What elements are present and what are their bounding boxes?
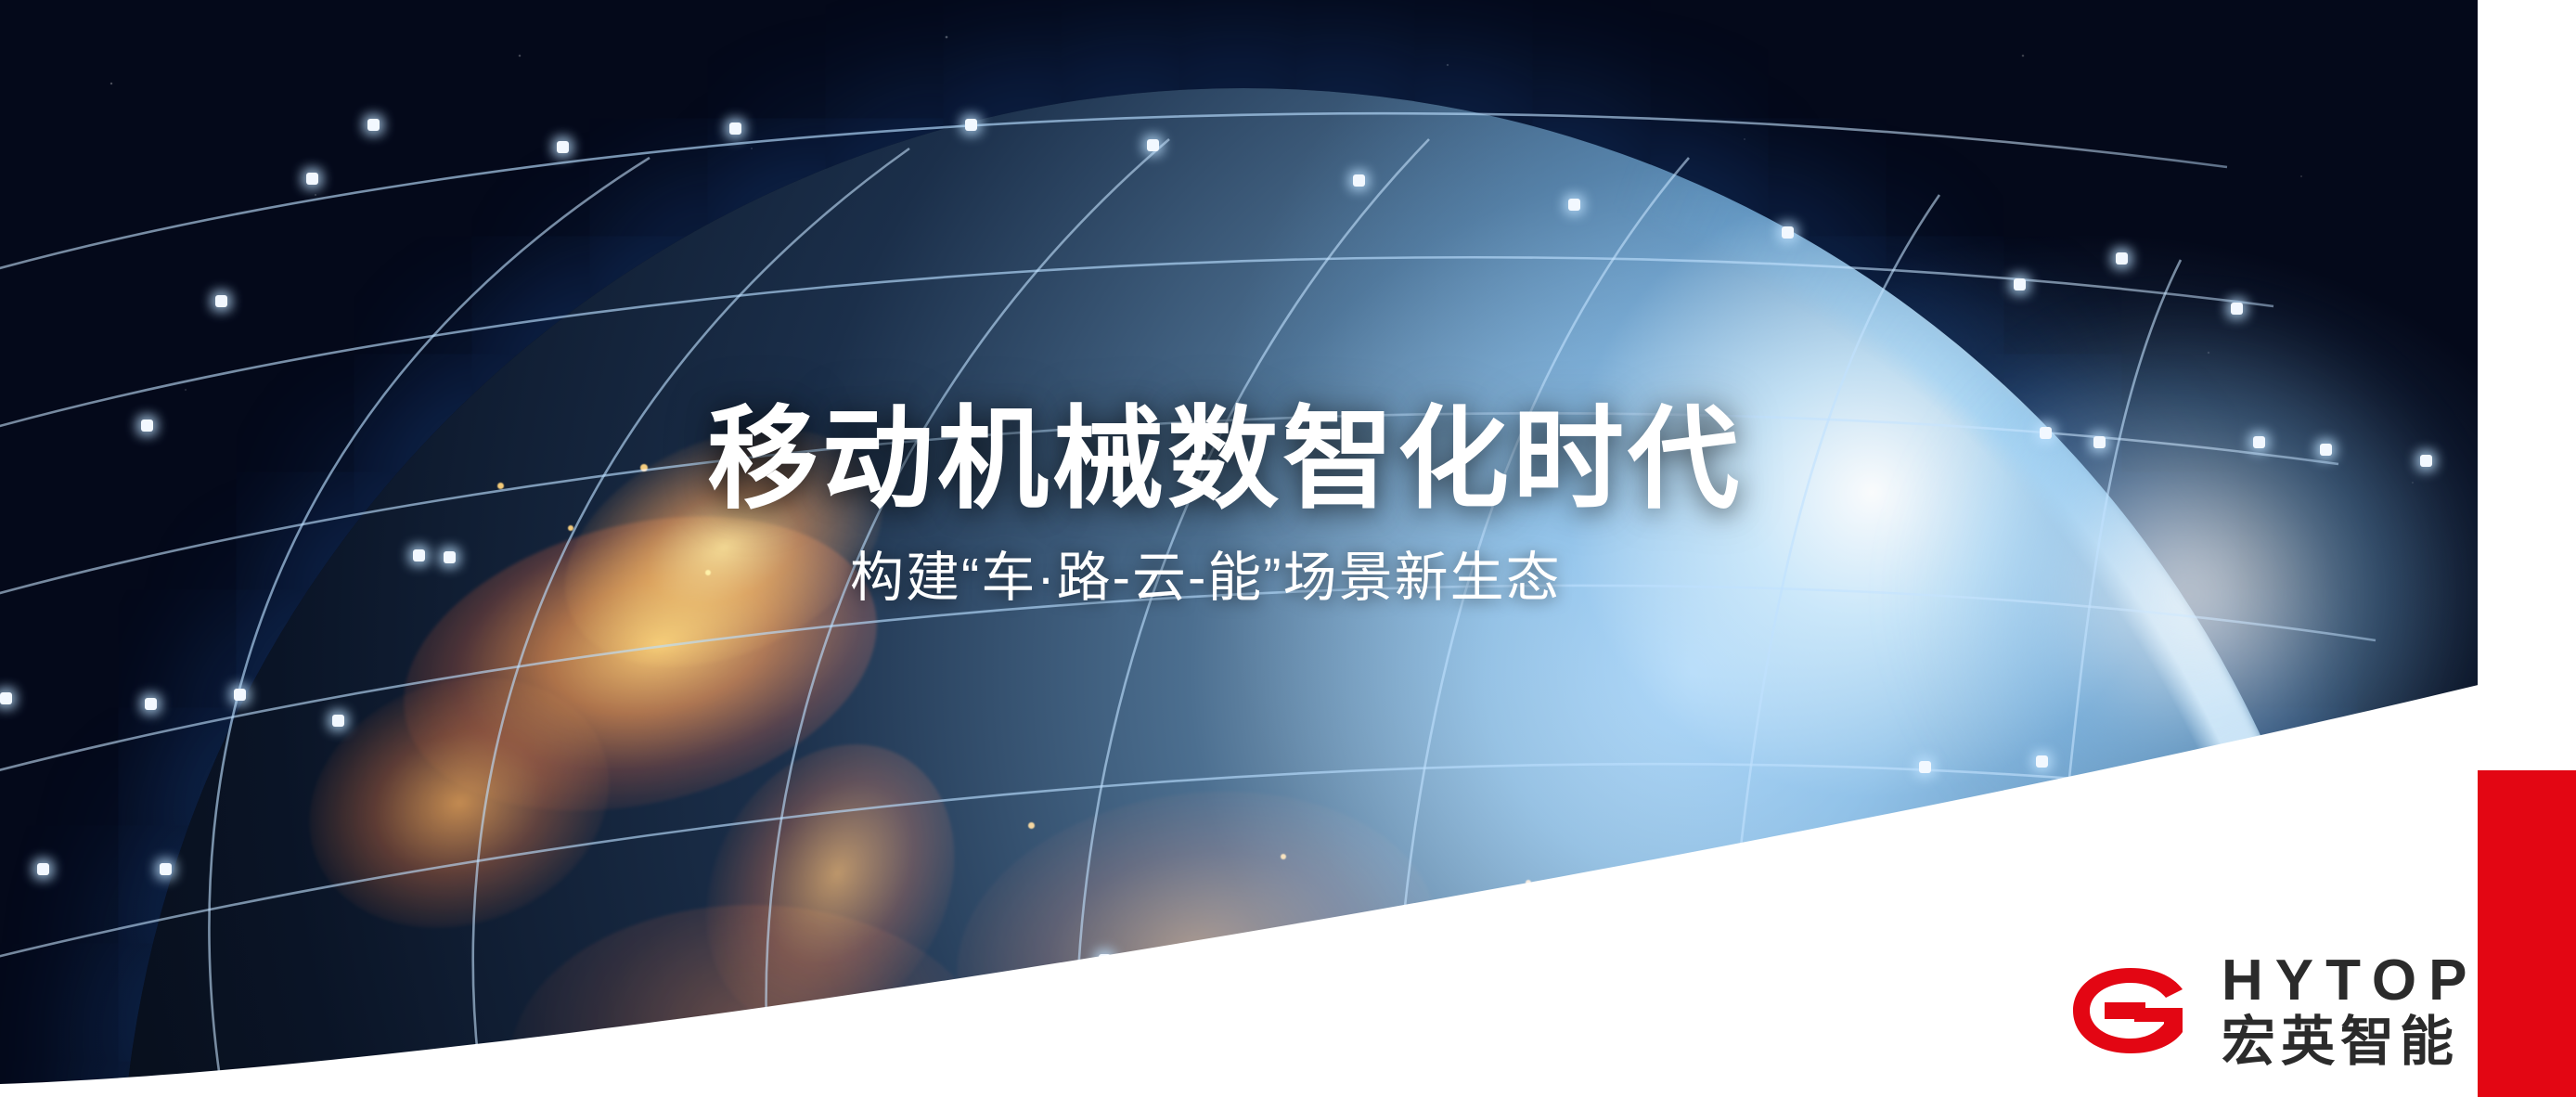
- network-node: [1147, 139, 1159, 151]
- network-node: [557, 141, 569, 153]
- red-accent-bar: [2478, 770, 2576, 1097]
- city-spark: [497, 483, 504, 489]
- network-node: [1099, 954, 1111, 966]
- network-node: [1438, 956, 1450, 968]
- network-node: [2093, 436, 2106, 448]
- network-node: [2231, 303, 2243, 315]
- network-node: [2014, 278, 2026, 290]
- network-node: [0, 692, 12, 704]
- network-node: [1919, 761, 1931, 773]
- city-spark: [568, 525, 573, 531]
- network-node: [215, 295, 227, 307]
- page-title: 移动机械数智化时代: [707, 401, 1743, 519]
- network-node: [1652, 949, 1664, 961]
- network-node: [2116, 252, 2128, 265]
- logo-text-english: HYTOP: [2222, 952, 2479, 1010]
- network-node: [729, 123, 741, 135]
- network-node: [2420, 455, 2432, 467]
- logo-text-chinese: 宏英智能: [2222, 1015, 2479, 1069]
- page-subtitle: 构建“车·路-云-能”场景新生态: [850, 548, 1562, 608]
- network-node: [965, 119, 977, 131]
- network-node: [367, 119, 380, 131]
- network-node: [234, 689, 246, 701]
- hytop-g-mark-icon: [2071, 964, 2190, 1057]
- network-node: [141, 419, 153, 432]
- presentation-slide: 移动机械数智化时代 构建“车·路-云-能”场景新生态 HYTOP 宏英智能: [0, 0, 2576, 1097]
- city-spark: [640, 464, 648, 471]
- network-node: [306, 173, 318, 185]
- network-node: [1782, 226, 1794, 239]
- company-logo: HYTOP 宏英智能: [2071, 952, 2479, 1069]
- network-node: [444, 551, 456, 563]
- network-node: [2320, 444, 2332, 456]
- network-node: [332, 715, 344, 727]
- network-node: [2036, 755, 2048, 768]
- city-spark: [705, 570, 711, 575]
- logo-wordmark: HYTOP 宏英智能: [2222, 952, 2479, 1069]
- network-node: [1568, 199, 1580, 211]
- network-node: [413, 549, 425, 561]
- network-node: [37, 863, 49, 875]
- city-spark: [1028, 822, 1035, 829]
- network-node: [1353, 174, 1365, 187]
- globe-limb-glow: [1902, 306, 2478, 882]
- network-node: [160, 863, 172, 875]
- network-node: [145, 698, 157, 710]
- city-spark: [1526, 880, 1531, 885]
- network-node: [2253, 436, 2265, 448]
- city-spark: [1281, 854, 1286, 859]
- network-node: [2040, 427, 2052, 439]
